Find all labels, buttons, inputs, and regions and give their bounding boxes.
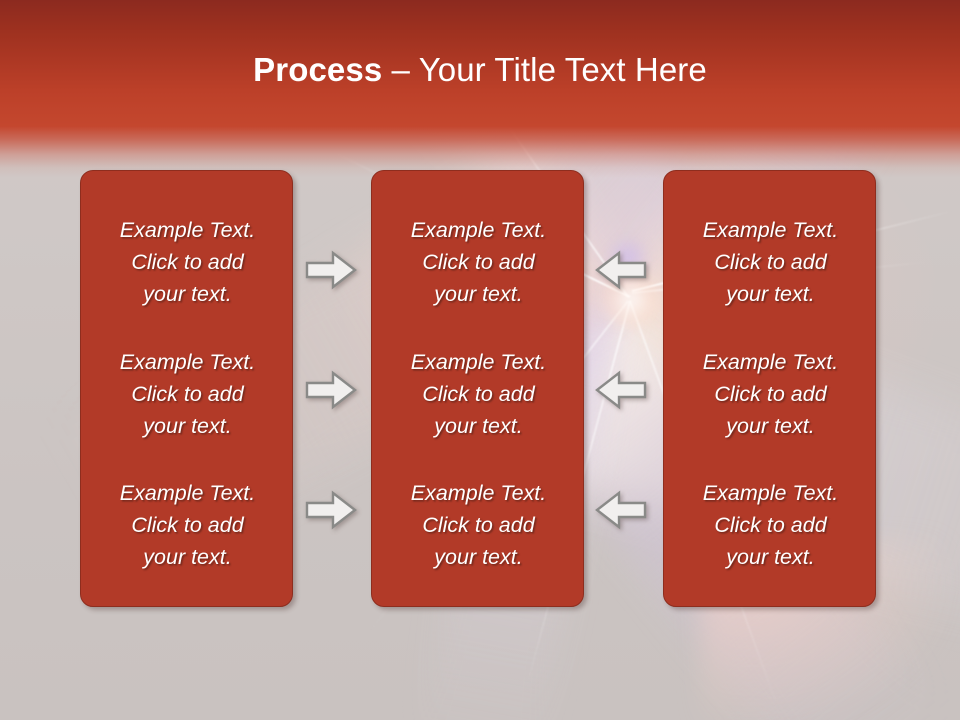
cell-line-2: Click to add [674, 378, 867, 410]
cell-line-2: Click to add [91, 246, 284, 278]
process-cell-2-2[interactable]: Example Text. Click to add your text. [382, 346, 575, 442]
process-column-1[interactable]: Example Text. Click to add your text. Ex… [80, 170, 293, 607]
page-title-separator: – [382, 51, 418, 88]
process-cell-3-2[interactable]: Example Text. Click to add your text. [674, 346, 867, 442]
cell-line-1: Example Text. [91, 214, 284, 246]
arrow-right-icon[interactable] [305, 490, 357, 530]
cell-line-2: Click to add [382, 509, 575, 541]
cell-line-3: your text. [382, 278, 575, 310]
process-cell-1-1[interactable]: Example Text. Click to add your text. [91, 214, 284, 310]
process-cell-2-3[interactable]: Example Text. Click to add your text. [382, 477, 575, 573]
arrow-right-icon[interactable] [305, 370, 357, 410]
cell-line-3: your text. [91, 541, 284, 573]
cell-line-1: Example Text. [382, 214, 575, 246]
cell-line-2: Click to add [382, 246, 575, 278]
arrow-left-icon[interactable] [595, 250, 647, 290]
arrow-left-icon[interactable] [595, 490, 647, 530]
cell-line-2: Click to add [382, 378, 575, 410]
page-title: Process – Your Title Text Here [0, 50, 960, 90]
cell-line-3: your text. [674, 410, 867, 442]
process-column-3[interactable]: Example Text. Click to add your text. Ex… [663, 170, 876, 607]
slide-canvas: Process – Your Title Text Here Example T… [0, 0, 960, 720]
cell-line-3: your text. [91, 410, 284, 442]
process-cell-2-1[interactable]: Example Text. Click to add your text. [382, 214, 575, 310]
cell-line-2: Click to add [674, 246, 867, 278]
page-title-bold: Process [253, 51, 382, 88]
cell-line-3: your text. [674, 541, 867, 573]
cell-line-1: Example Text. [674, 346, 867, 378]
page-title-rest: Your Title Text Here [419, 51, 707, 88]
cell-line-3: your text. [91, 278, 284, 310]
cell-line-3: your text. [382, 541, 575, 573]
process-column-2[interactable]: Example Text. Click to add your text. Ex… [371, 170, 584, 607]
cell-line-1: Example Text. [674, 477, 867, 509]
cell-line-2: Click to add [91, 378, 284, 410]
process-cell-1-3[interactable]: Example Text. Click to add your text. [91, 477, 284, 573]
cell-line-1: Example Text. [91, 346, 284, 378]
cell-line-1: Example Text. [674, 214, 867, 246]
arrow-left-icon[interactable] [595, 370, 647, 410]
cell-line-2: Click to add [674, 509, 867, 541]
cell-line-1: Example Text. [382, 477, 575, 509]
arrow-right-icon[interactable] [305, 250, 357, 290]
cell-line-3: your text. [674, 278, 867, 310]
process-cell-3-1[interactable]: Example Text. Click to add your text. [674, 214, 867, 310]
cell-line-1: Example Text. [382, 346, 575, 378]
cell-line-3: your text. [382, 410, 575, 442]
cell-line-2: Click to add [91, 509, 284, 541]
process-cell-1-2[interactable]: Example Text. Click to add your text. [91, 346, 284, 442]
cell-line-1: Example Text. [91, 477, 284, 509]
process-cell-3-3[interactable]: Example Text. Click to add your text. [674, 477, 867, 573]
